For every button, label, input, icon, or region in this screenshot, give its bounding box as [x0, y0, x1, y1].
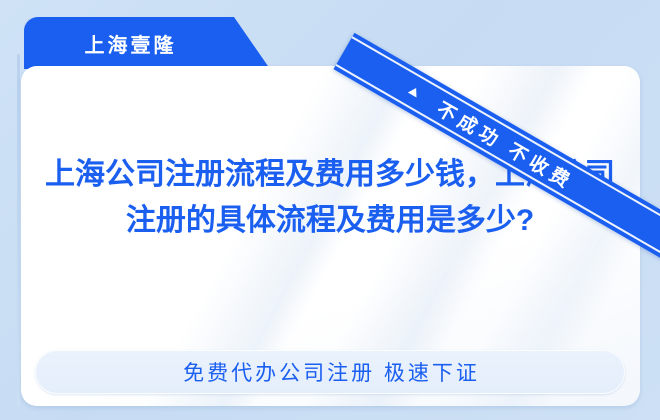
cta-button-label: 免费代办公司注册 极速下证	[180, 357, 480, 387]
brand-tab-label: 上海壹隆	[24, 17, 234, 69]
page-title: 上海公司注册流程及费用多少钱，上海公司注册的具体流程及费用是多少?	[45, 152, 615, 244]
left-accent-rail	[17, 54, 20, 406]
promo-poster: 上海壹隆 上海公司注册流程及费用多少钱，上海公司注册的具体流程及费用是多少? 免…	[0, 0, 660, 420]
cta-button[interactable]: 免费代办公司注册 极速下证	[35, 350, 625, 394]
